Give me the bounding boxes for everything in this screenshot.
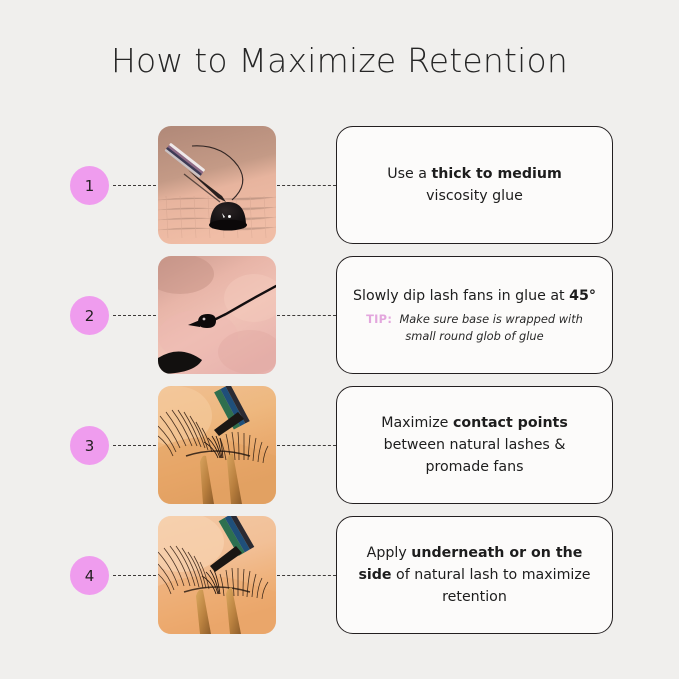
card-line: Apply underneath or on the xyxy=(367,542,583,564)
step-row: 1 xyxy=(0,126,679,244)
step-number-badge: 2 xyxy=(70,296,109,335)
card-line: viscosity glue xyxy=(426,185,523,207)
card-line: Use a thick to medium xyxy=(387,163,562,185)
tip-block: TIP: Make sure base is wrapped with smal… xyxy=(366,311,583,345)
card-line: side of natural lash to maximize xyxy=(358,564,590,586)
connector-line-right xyxy=(277,185,336,186)
connector-line-right xyxy=(277,575,336,576)
step-number-badge: 1 xyxy=(70,166,109,205)
step-image-3 xyxy=(158,386,276,504)
step-image-1 xyxy=(158,126,276,244)
connector-line-left xyxy=(113,315,156,316)
card-line: Slowly dip lash fans in glue at 45° xyxy=(353,285,596,307)
step-text-card: Slowly dip lash fans in glue at 45° TIP:… xyxy=(336,256,613,374)
tip-line: small round glob of glue xyxy=(366,328,583,345)
step-image-4 xyxy=(158,516,276,634)
step-text-card: Maximize contact points between natural … xyxy=(336,386,613,504)
step-row: 4 xyxy=(0,516,679,634)
step-text-card: Apply underneath or on the side of natur… xyxy=(336,516,613,634)
connector-line-right xyxy=(277,315,336,316)
tip-line: TIP: Make sure base is wrapped with xyxy=(366,311,583,328)
card-line: retention xyxy=(442,586,507,608)
steps-list: 1 xyxy=(0,126,679,646)
step-image-2 xyxy=(158,256,276,374)
card-line: promade fans xyxy=(425,456,523,478)
connector-line-right xyxy=(277,445,336,446)
connector-line-left xyxy=(113,445,156,446)
step-text-card: Use a thick to medium viscosity glue xyxy=(336,126,613,244)
step-number-badge: 3 xyxy=(70,426,109,465)
connector-line-left xyxy=(113,185,156,186)
card-line: Maximize contact points xyxy=(381,412,568,434)
card-line: between natural lashes & xyxy=(384,434,566,456)
step-row: 3 xyxy=(0,386,679,504)
tip-label: TIP: xyxy=(366,312,392,326)
connector-line-left xyxy=(113,575,156,576)
step-row: 2 xyxy=(0,256,679,374)
step-number-badge: 4 xyxy=(70,556,109,595)
page-title: How to Maximize Retention xyxy=(0,41,679,80)
